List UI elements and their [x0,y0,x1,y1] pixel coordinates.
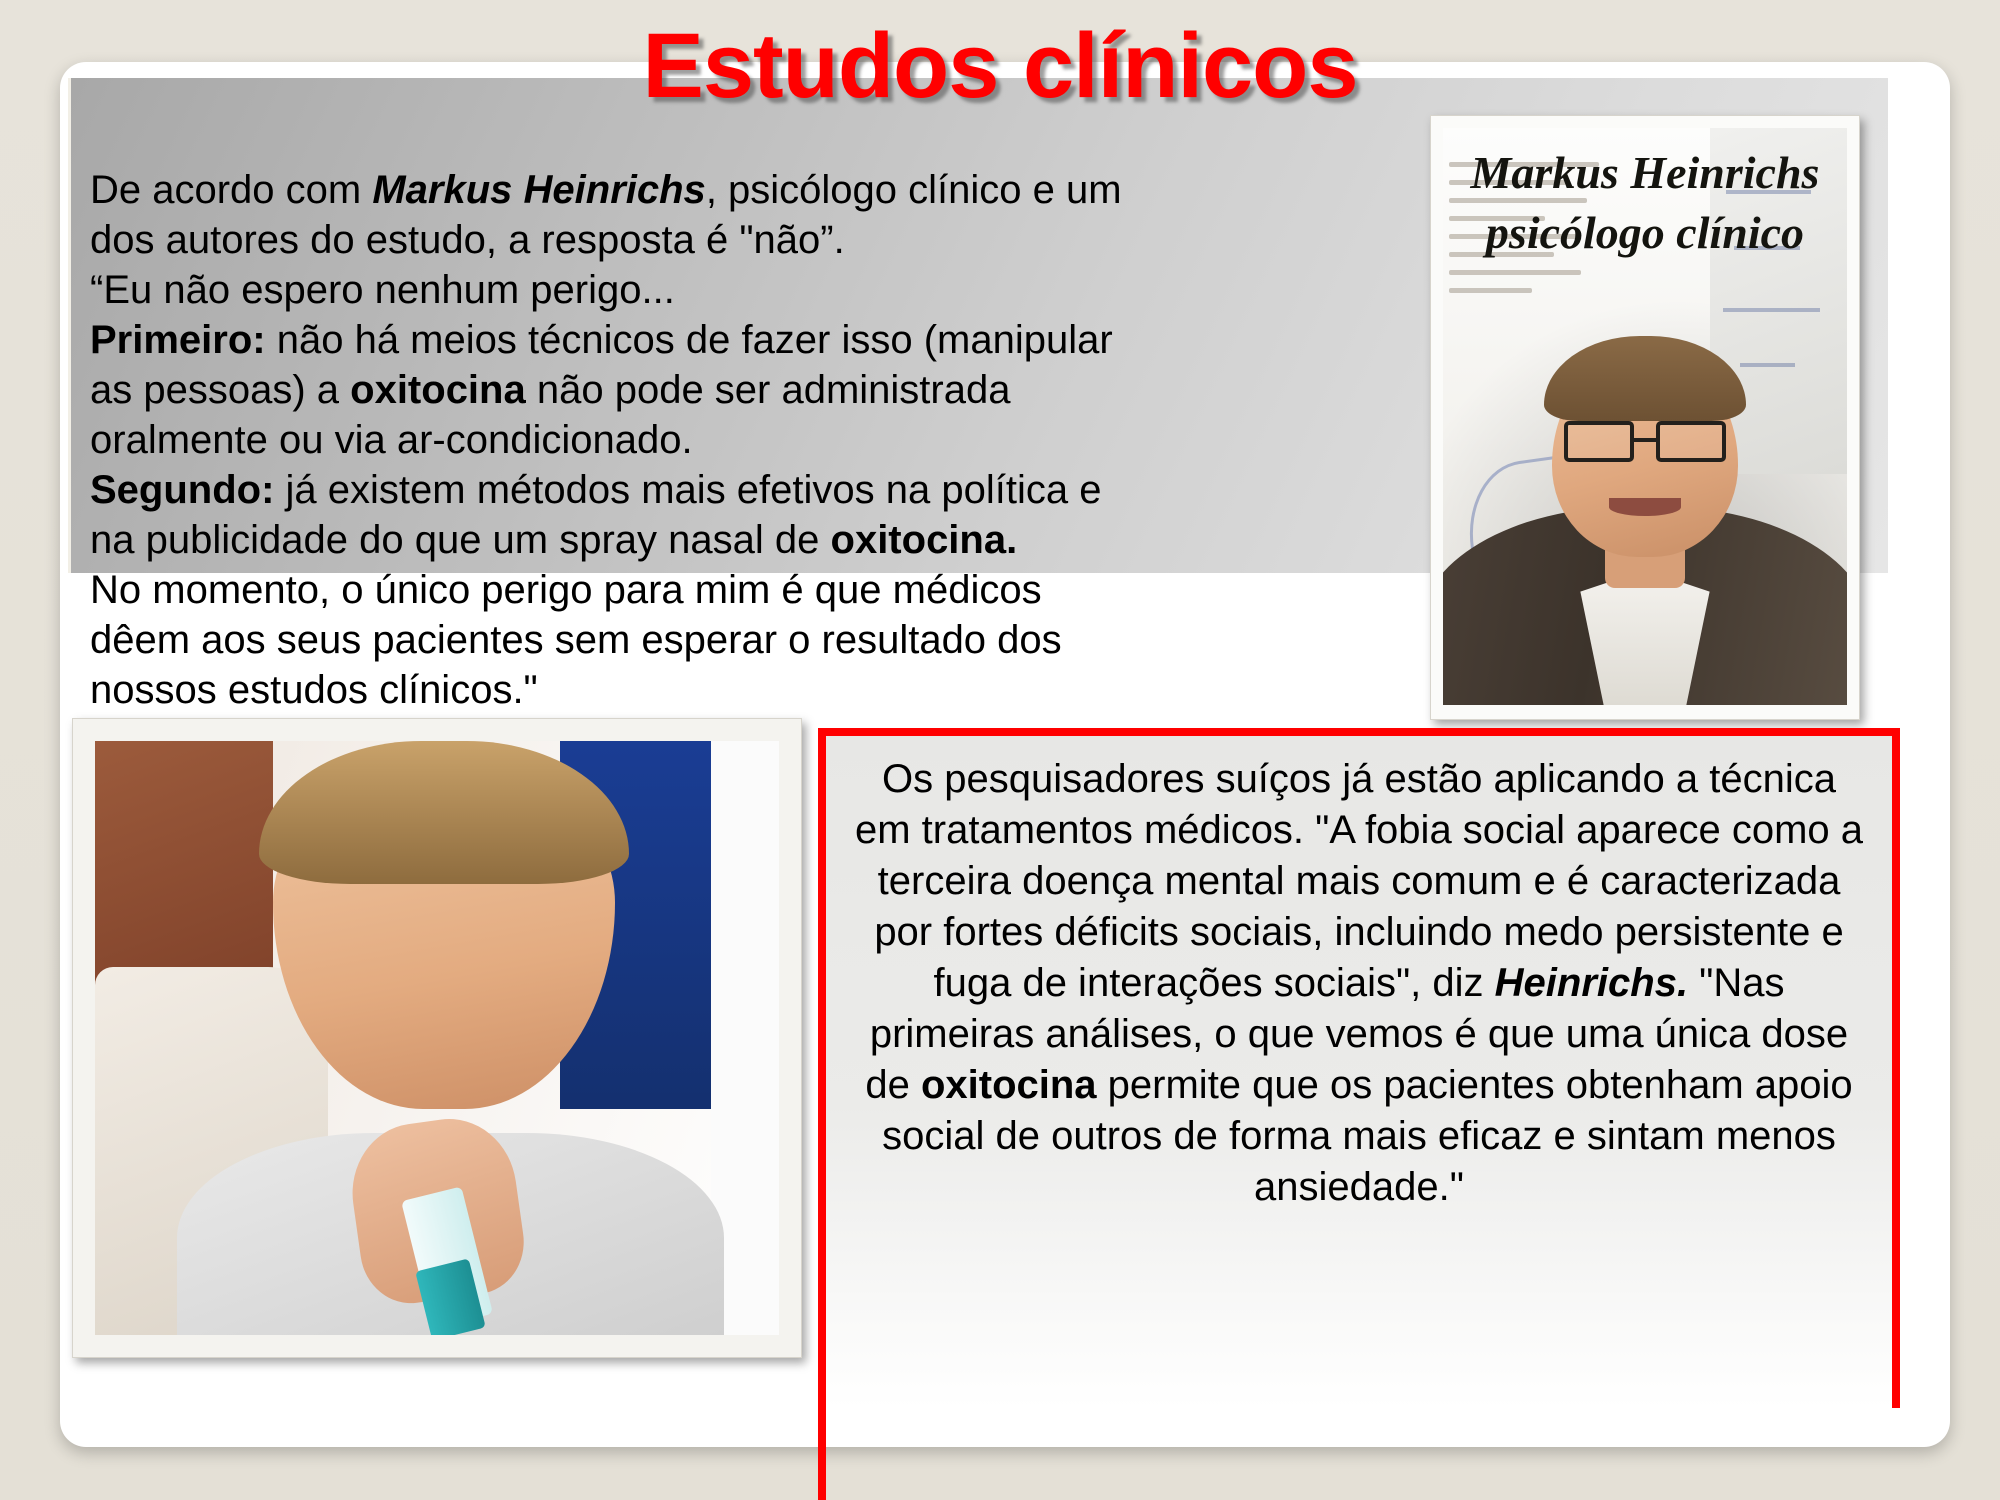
photo-caption-name: Markus Heinrichs [1443,146,1847,199]
shirt-shape [1580,570,1709,705]
lead-line-1: De acordo com Markus Heinrichs, psicólog… [90,165,1130,265]
glasses-icon [1564,421,1726,462]
heinrichs-bold-mention: Heinrichs. [1495,961,1688,1005]
oxitocina-bold-1: oxitocina [350,368,526,412]
hair-shape [1544,336,1746,422]
oxitocina-bold-3: oxitocina [921,1063,1097,1107]
oxitocina-bold-2: oxitocina. [831,518,1018,562]
photo-caption-role: psicólogo clínico [1443,206,1847,259]
red-highlight-box: Os pesquisadores suíços já estão aplican… [818,728,1900,1408]
red-box-text: Os pesquisadores suíços já estão aplican… [826,736,1892,1213]
lead-line-1-pre: De acordo com [90,168,372,212]
red-border-extension [818,1408,826,1500]
lead-line-5: No momento, o único perigo para mim é qu… [90,565,1130,715]
page-title: Estudos clínicos [0,14,2000,119]
markus-heinrichs-name: Markus Heinrichs [372,168,705,212]
lead-paragraph: De acordo com Markus Heinrichs, psicólog… [90,165,1130,715]
primeiro-label: Primeiro: [90,318,266,362]
lead-line-3: Primeiro: não há meios técnicos de fazer… [90,315,1130,465]
segundo-label: Segundo: [90,468,274,512]
heinrichs-photo: Markus Heinrichs psicólogo clínico [1443,128,1847,705]
lead-line-2: “Eu não espero nenhum perigo... [90,265,1130,315]
nasal-spray-photo [95,741,779,1335]
slide-canvas: Estudos clínicos De acordo com Markus He… [0,0,2000,1500]
lead-line-4: Segundo: já existem métodos mais efetivo… [90,465,1130,565]
heinrichs-portrait-illustration [1443,255,1847,705]
heinrichs-photo-frame: Markus Heinrichs psicólogo clínico [1430,115,1860,720]
nasal-spray-photo-frame [72,718,802,1358]
mouth-shape [1609,498,1682,516]
